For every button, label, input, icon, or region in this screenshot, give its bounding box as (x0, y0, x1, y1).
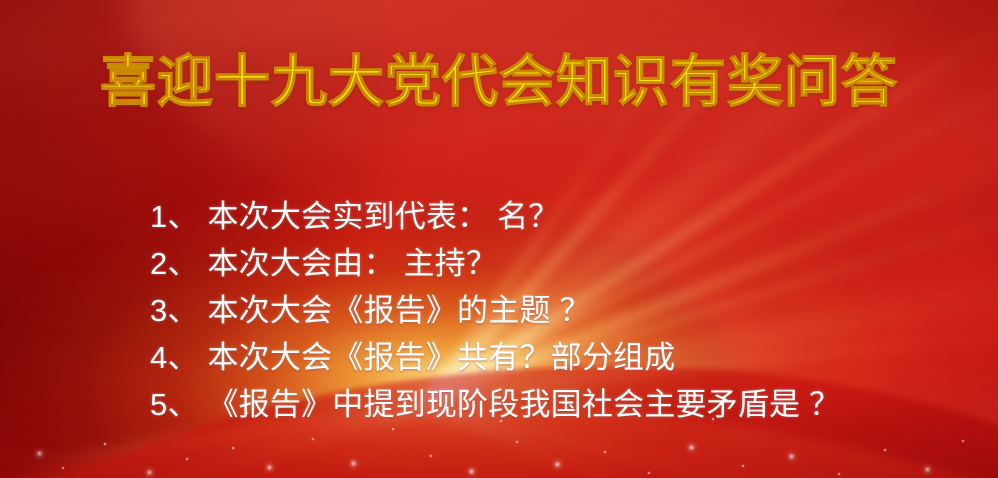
question-item-5: 5、 《报告》中提到现阶段我国社会主要矛盾是 ？ (150, 381, 970, 428)
question-item-2: 2、 本次大会由： 主持？ (150, 240, 970, 287)
slide-title: 喜迎十九大党代会知识有奖问答 (0, 52, 998, 112)
presentation-slide: 喜迎十九大党代会知识有奖问答 1、 本次大会实到代表： 名？ 2、 本次大会由：… (0, 0, 998, 478)
slide-content: 喜迎十九大党代会知识有奖问答 1、 本次大会实到代表： 名？ 2、 本次大会由：… (0, 0, 998, 478)
question-item-1: 1、 本次大会实到代表： 名？ (150, 193, 970, 240)
question-item-3: 3、 本次大会《报告》的主题 ？ (150, 287, 970, 334)
question-list: 1、 本次大会实到代表： 名？ 2、 本次大会由： 主持？ 3、 本次大会《报告… (150, 193, 970, 428)
question-item-4: 4、 本次大会《报告》共有？部分组成 (150, 334, 970, 381)
